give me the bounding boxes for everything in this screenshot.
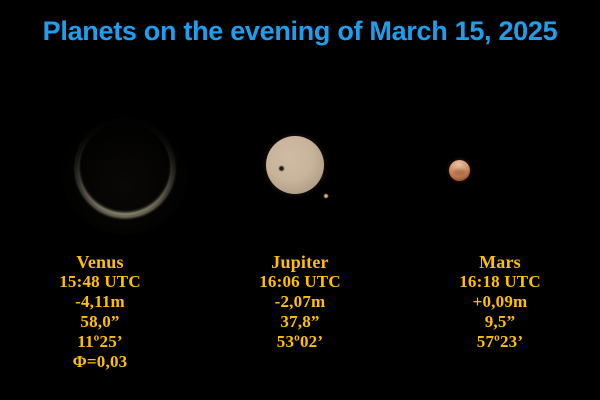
- mars-limb-shading: [449, 160, 470, 181]
- mars-disc-body: [449, 160, 470, 181]
- venus-crescent-highlight-icon: [78, 121, 172, 215]
- planet-phase-venus: Φ=0,03: [0, 352, 200, 372]
- planet-name-mars: Mars: [400, 252, 600, 272]
- planet-time-mars: 16:18 UTC: [400, 272, 600, 292]
- planet-magnitude-jupiter: -2,07m: [200, 292, 400, 312]
- planet-diameter-mars: 9,5”: [400, 312, 600, 332]
- planet-elongation-venus: 11º25’: [0, 332, 200, 352]
- caption-row: Venus 15:48 UTC -4,11m 58,0” 11º25’ Φ=0,…: [0, 252, 600, 400]
- planet-name-jupiter: Jupiter: [200, 252, 400, 272]
- jupiter-limb-shading: [266, 136, 324, 194]
- planet-name-venus: Venus: [0, 252, 200, 272]
- planet-diameter-venus: 58,0”: [0, 312, 200, 332]
- planet-magnitude-mars: +0,09m: [400, 292, 600, 312]
- planet-time-jupiter: 16:06 UTC: [200, 272, 400, 292]
- jupiter-disc-body: [266, 136, 324, 194]
- caption-column-venus: Venus 15:48 UTC -4,11m 58,0” 11º25’ Φ=0,…: [0, 252, 200, 400]
- planet-elongation-mars: 57º23’: [400, 332, 600, 352]
- caption-column-jupiter: Jupiter 16:06 UTC -2,07m 37,8” 53º02’: [200, 252, 400, 400]
- planet-diameter-jupiter: 37,8”: [200, 312, 400, 332]
- planet-magnitude-venus: -4,11m: [0, 292, 200, 312]
- jupiter-moon-icon: [324, 194, 328, 198]
- planet-time-venus: 15:48 UTC: [0, 272, 200, 292]
- planet-image-stage: [0, 0, 600, 250]
- mars-disc-icon: [449, 160, 470, 181]
- jupiter-disc-icon: [266, 136, 324, 194]
- planet-elongation-jupiter: 53º02’: [200, 332, 400, 352]
- planet-montage-poster: Planets on the evening of March 15, 2025: [0, 0, 600, 400]
- caption-column-mars: Mars 16:18 UTC +0,09m 9,5” 57º23’: [400, 252, 600, 400]
